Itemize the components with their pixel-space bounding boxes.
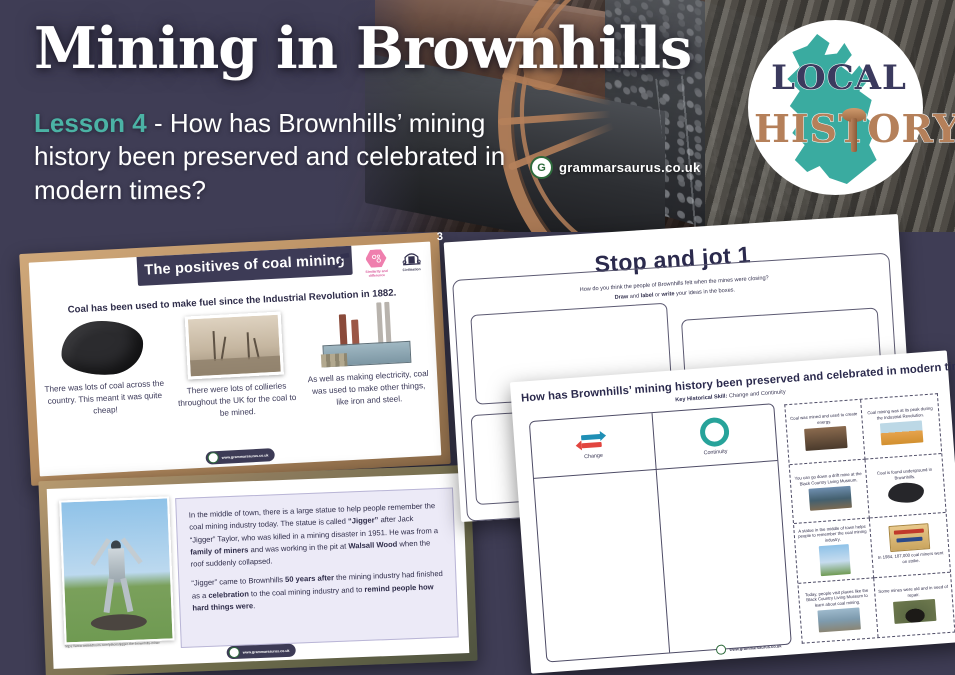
colliery-sepia-photo	[185, 312, 284, 380]
visitors-thumb	[817, 607, 860, 632]
hero-banner: Mining in Brownhills Lesson 4 - How has …	[0, 0, 955, 232]
instr-label: label	[640, 292, 653, 299]
continuity-circle-icon	[699, 417, 730, 448]
slide-positives-of-coal-mining[interactable]: The positives of coal mining Industry	[19, 232, 451, 486]
change-label: Change	[584, 452, 603, 459]
civilisation-icon-label: Civilisation	[399, 268, 425, 273]
pit-headgear-glyph	[400, 247, 422, 267]
table-header-continuity: Continuity	[652, 404, 778, 469]
miners-in-mine-thumb	[804, 426, 847, 451]
sort-footer-url: www.grammarsaurus.co.uk	[729, 643, 781, 652]
slide-columns: There was lots of coal across the countr…	[40, 304, 431, 429]
column-industry-caption: As well as making electricity, coal was …	[307, 368, 431, 410]
sort-card[interactable]: Coal was mined and used to create energy…	[785, 400, 865, 465]
p2-part-3: celebration	[208, 589, 249, 600]
sort-card-text: A statue in the middle of town helps peo…	[797, 523, 867, 545]
instr-tail: your ideas in the boxes.	[674, 287, 735, 297]
grammarsaurus-dot-icon	[228, 647, 239, 658]
slide-page-number: 3	[431, 231, 450, 248]
page-title: Mining in Brownhills	[34, 20, 691, 77]
brand-credit: G grammarsaurus.co.uk	[530, 156, 701, 179]
slide-jigger-statue[interactable]: https://www.asteadtours.com/places/jigge…	[38, 465, 477, 675]
sorting-table[interactable]: Change Continuity	[529, 403, 792, 662]
local-history-logo: LOCAL HISTORY	[748, 20, 923, 195]
poster-canvas: Mining in Brownhills Lesson 4 - How has …	[0, 0, 955, 675]
factory-thumb	[880, 420, 923, 445]
similarity-icon-label: Similarity and difference	[364, 270, 390, 279]
slide-title-bar: The positives of coal mining	[136, 244, 352, 286]
industry-icon: Industry	[327, 249, 355, 281]
jigger-text-panel: In the middle of town, there is a large …	[175, 487, 459, 648]
skill-value: Change and Continuity	[727, 389, 786, 399]
instr-write: write	[661, 291, 674, 298]
p2-part-4: to the coal mining industry and to	[249, 585, 365, 598]
logo-text-local: LOCAL	[766, 58, 912, 98]
jigger-paragraph-2: “Jigger” came to Brownhills 50 years aft…	[191, 568, 444, 615]
p2-part-1: 50 years after	[285, 574, 334, 585]
slide-footer-url: www.grammarsaurus.co.uk	[222, 453, 269, 459]
p1-part-3: family of miners	[190, 545, 249, 556]
p2-part-0: “Jigger” came to Brownhills	[191, 575, 285, 588]
sort-card-text: Coal is found underground in Brownhills.	[869, 466, 940, 483]
historical-skill-icons: Industry Similarity and difference	[327, 245, 424, 281]
statue-thumb	[818, 544, 850, 576]
jigger-paragraph-1: In the middle of town, there is a large …	[189, 500, 443, 571]
strike-placard-thumb	[888, 524, 930, 553]
statue-figure	[93, 530, 140, 618]
column-collieries-caption: There were lots of collieries throughout…	[175, 380, 299, 422]
worksheet-change-continuity-sort[interactable]: How has Brownhills’ mining history been …	[510, 350, 955, 673]
grammarsaurus-dot-icon	[207, 452, 219, 464]
sort-card[interactable]: Coal mining was at its peak during the I…	[861, 394, 941, 459]
continuity-label: Continuity	[703, 449, 727, 457]
museum-thumb	[808, 485, 851, 510]
column-coal: There was lots of coal across the countr…	[40, 318, 167, 429]
factory-illustration	[319, 305, 414, 368]
hammer-glyph	[331, 250, 351, 270]
skill-label: Key Historical Skill:	[675, 394, 728, 404]
instr-and: and	[628, 293, 641, 300]
lesson-label: Lesson 4	[34, 108, 147, 138]
sort-card-text: Some mines were old and in need of repai…	[878, 584, 949, 601]
p1-part-5: Walsall Wood	[348, 540, 397, 551]
sort-card-text: In 1984, 187,000 coal miners went on str…	[876, 550, 947, 567]
p1-part-1: “Jigger”	[348, 516, 379, 526]
instr-draw: Draw	[614, 294, 628, 301]
slide2-footer-badge: www.grammarsaurus.co.uk	[226, 644, 295, 660]
similarity-and-difference-icon: Similarity and difference	[362, 247, 390, 279]
civilisation-icon: Civilisation	[397, 245, 425, 277]
sort-card[interactable]: In 1984, 187,000 coal miners went on str…	[870, 513, 950, 578]
column-industry: As well as making electricity, coal was …	[304, 304, 431, 415]
p2-part-6: .	[253, 601, 255, 610]
sort-card[interactable]: You can go down a drift mine at the Blac…	[790, 459, 870, 524]
footprints-glyph	[369, 252, 383, 266]
sort-card-text: Coal was mined and used to create energy…	[789, 411, 859, 428]
sort-card-text: Today, people visit places like the Blac…	[802, 587, 872, 609]
jigger-statue-photo	[59, 496, 174, 644]
hex-glyph	[365, 248, 387, 268]
sort-card[interactable]: Coal is found underground in Brownhills.	[865, 454, 945, 519]
slide-footer-badge: www.grammarsaurus.co.uk	[205, 448, 274, 465]
grammarsaurus-dot-icon	[716, 644, 727, 655]
grammarsaurus-logo-icon: G	[530, 156, 553, 179]
lesson-subtitle: Lesson 4 - How has Brownhills’ mining hi…	[34, 107, 514, 207]
sort-card-grid: Coal was mined and used to create energy…	[784, 393, 955, 644]
p1-part-4: and was working in the pit at	[248, 541, 348, 554]
column-coal-caption: There was lots of coal across the countr…	[43, 378, 167, 420]
column-collieries: There were lots of collieries throughout…	[172, 311, 299, 422]
old-mine-tunnel-thumb	[893, 599, 936, 624]
table-header-change: Change	[530, 413, 656, 478]
change-arrows-icon	[579, 431, 606, 451]
logo-text-history: HISTORY	[754, 106, 924, 151]
coal-lump-thumb	[887, 481, 924, 504]
sort-card-text: You can go down a drift mine at the Blac…	[793, 471, 863, 488]
map-pin-icon	[842, 108, 866, 152]
sort-card[interactable]: A statue in the middle of town helps peo…	[794, 518, 874, 583]
sort-card-text: Coal mining was at its peak during the I…	[865, 406, 936, 423]
slide2-footer-url: www.grammarsaurus.co.uk	[243, 648, 290, 654]
industry-icon-label: Industry	[329, 272, 355, 277]
brand-credit-text: grammarsaurus.co.uk	[559, 160, 701, 175]
coal-lump-illustration	[60, 319, 145, 377]
